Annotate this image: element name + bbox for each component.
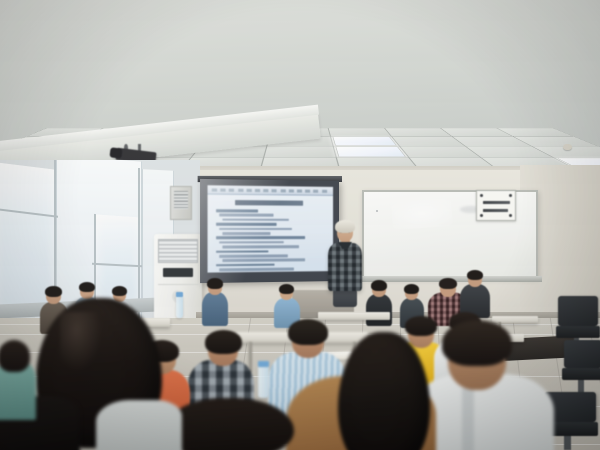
handwritten-sign — [476, 190, 516, 221]
hair-highlight — [60, 312, 102, 372]
student-top — [202, 292, 228, 326]
lecturer-plaid-shirt — [328, 243, 362, 291]
sign-text-line — [483, 201, 510, 204]
ceiling-tile — [328, 128, 391, 136]
lecturer-hair — [335, 220, 355, 233]
student-hair — [404, 284, 419, 294]
student-hair — [79, 282, 95, 292]
student-hair — [442, 320, 512, 366]
projection-screen — [200, 179, 339, 283]
projector-lens-icon — [109, 147, 122, 158]
whiteboard-glare — [391, 198, 453, 230]
magnet-icon — [509, 194, 512, 197]
window-mullion — [138, 168, 140, 318]
desk — [318, 312, 390, 320]
student-back-left — [202, 280, 228, 324]
classroom-photo: An elderly male lecturer in a dark plaid… — [0, 0, 600, 450]
magnet-icon — [509, 214, 512, 217]
student-hair — [112, 286, 127, 296]
lecturer — [322, 220, 368, 306]
ceiling-light-panel — [336, 147, 406, 157]
student-top — [366, 294, 392, 326]
ceiling-light-panel — [333, 137, 397, 145]
student-hair — [205, 330, 242, 354]
student-hair — [0, 340, 30, 372]
smoke-detector-icon — [563, 144, 572, 150]
student-hair — [371, 280, 387, 291]
magnet-icon — [480, 214, 483, 217]
lecturer-legs — [333, 289, 357, 307]
ceiling-tile — [264, 146, 336, 158]
ac-control-panel[interactable] — [163, 268, 193, 277]
student-back-right-edge — [460, 270, 490, 316]
ac-seam — [158, 284, 198, 285]
wall-vent-box — [170, 186, 192, 220]
student-hair — [207, 278, 223, 289]
bottle-cap — [176, 292, 183, 297]
air-vent-grille-icon — [158, 239, 198, 263]
student-hair — [279, 284, 294, 294]
student-hair — [45, 286, 62, 297]
student-left-edge — [0, 344, 36, 414]
screen-glare — [200, 179, 339, 283]
magnet-icon — [480, 194, 483, 197]
student-hair — [439, 278, 457, 289]
sign-text-line — [483, 209, 508, 212]
student-hair — [467, 270, 483, 280]
water-bottle — [176, 296, 183, 318]
